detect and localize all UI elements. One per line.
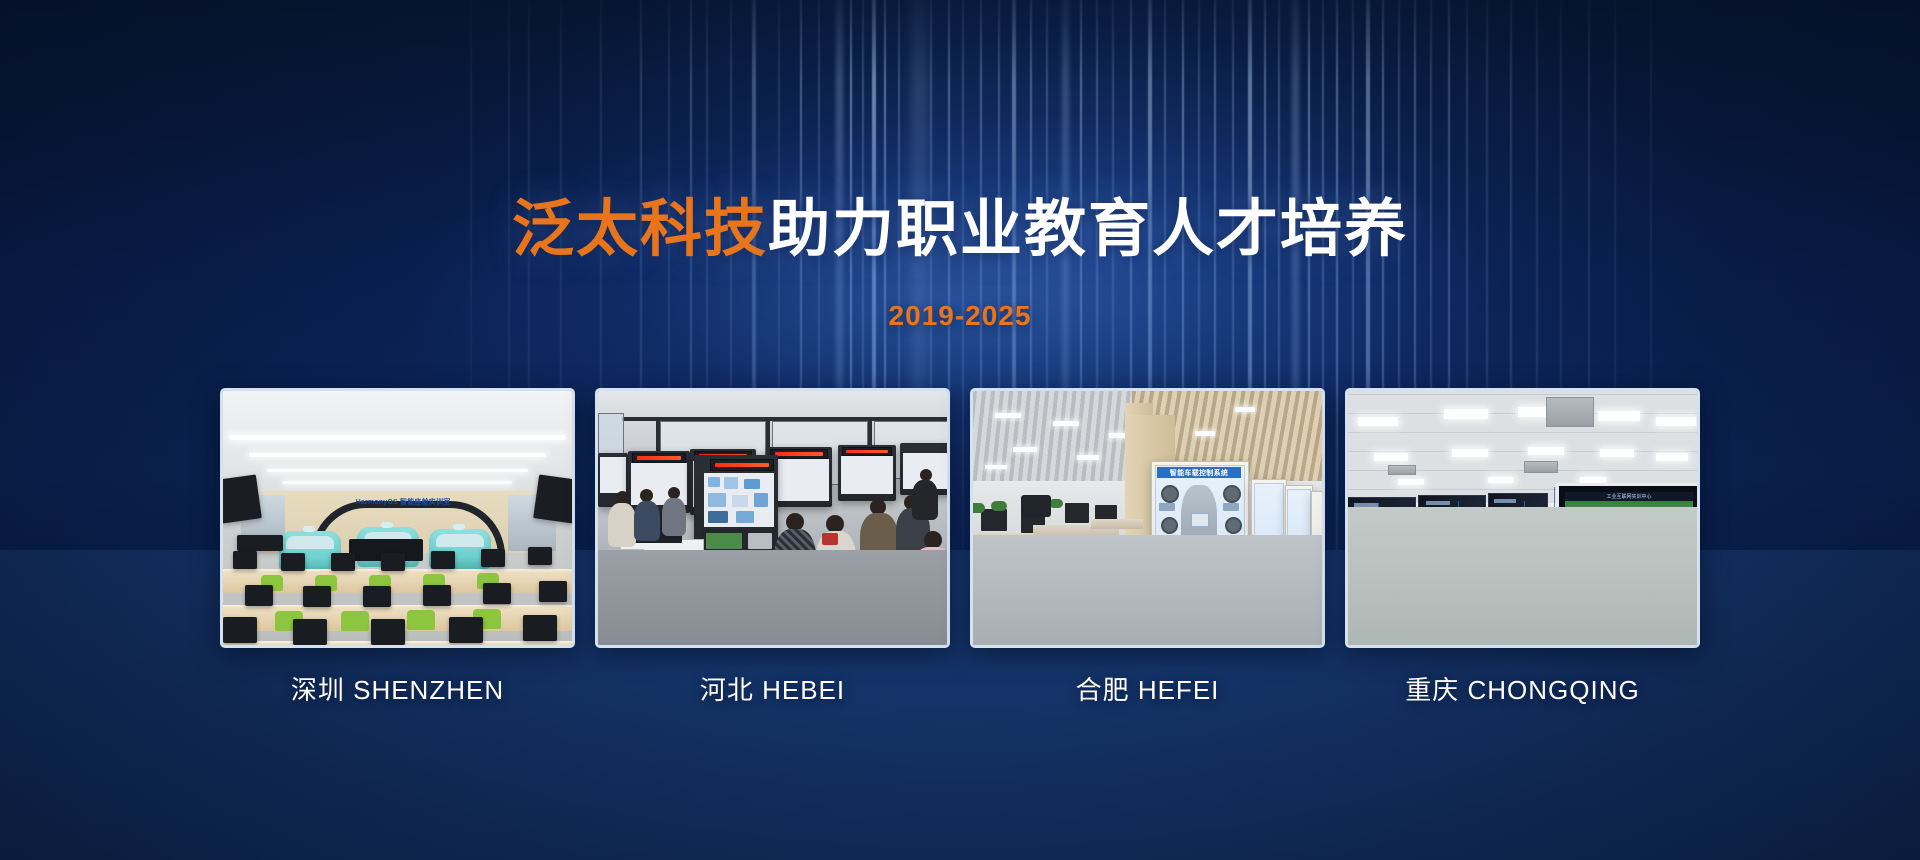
title-rest: 助力职业教育人才培养 bbox=[768, 195, 1408, 264]
photo-frame: 工业互联网实训中心 bbox=[1345, 388, 1700, 648]
photo-banner-text: 工业互联网实训中心 bbox=[1565, 492, 1693, 501]
photo-hebei-lab bbox=[598, 391, 947, 645]
hero-banner: 泛太科技助力职业教育人才培养 2019-2025 HarmonyOS 智能座舱实… bbox=[0, 0, 1920, 860]
gallery-caption: 河北 HEBEI bbox=[595, 670, 950, 707]
brand-name: 泛太科技 bbox=[512, 195, 768, 264]
gallery-caption: 深圳 SHENZHEN bbox=[220, 670, 575, 707]
photo-banner-text: 智能车载控制系统 bbox=[1157, 467, 1241, 478]
photo-shenzhen-classroom: HarmonyOS 智能座舱实训室 bbox=[223, 391, 572, 645]
photo-frame: 智能车载控制系统 bbox=[970, 388, 1325, 648]
photo-chongqing-lab: 工业互联网实训中心 bbox=[1348, 391, 1697, 645]
gallery-item-hefei[interactable]: 智能车载控制系统 bbox=[970, 388, 1325, 707]
subtitle-years: 2019-2025 bbox=[0, 300, 1920, 332]
photo-hefei-lab: 智能车载控制系统 bbox=[973, 391, 1322, 645]
gallery-item-chongqing[interactable]: 工业互联网实训中心 bbox=[1345, 388, 1700, 707]
photo-frame: HarmonyOS 智能座舱实训室 bbox=[220, 388, 575, 648]
gallery-item-hebei[interactable]: 河北 HEBEI bbox=[595, 388, 950, 707]
gallery-caption: 合肥 HEFEI bbox=[970, 670, 1325, 707]
gallery-item-shenzhen[interactable]: HarmonyOS 智能座舱实训室 bbox=[220, 388, 575, 707]
gallery-caption: 重庆 CHONGQING bbox=[1345, 670, 1700, 707]
photo-banner-text: HarmonyOS 智能座舱实训室 bbox=[315, 497, 491, 507]
photo-frame bbox=[595, 388, 950, 648]
page-title: 泛太科技助力职业教育人才培养 bbox=[0, 196, 1920, 264]
gallery: HarmonyOS 智能座舱实训室 bbox=[0, 388, 1920, 707]
